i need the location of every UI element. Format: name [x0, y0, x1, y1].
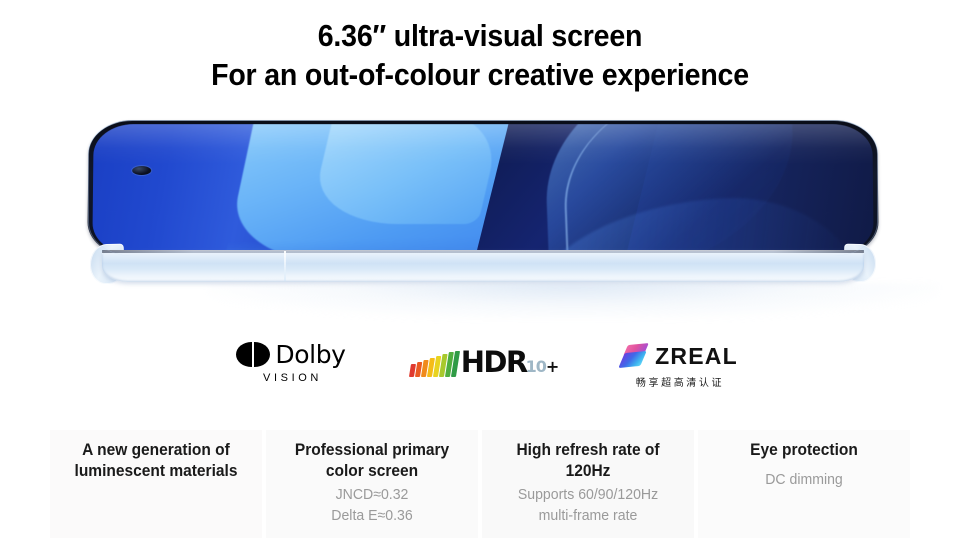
feature-subtext-2: multi-frame rate: [494, 506, 682, 526]
product-hero-image: [0, 112, 960, 322]
page-headline: 6.36″ ultra-visual screen For an out-of-…: [0, 18, 960, 93]
zreal-diamond-icon: [622, 344, 648, 368]
front-camera-icon: [132, 166, 151, 175]
phone-screen: [92, 124, 874, 254]
hdr-mark: HDR 10 +: [411, 348, 560, 377]
feature-subtext-1: DC dimming: [710, 470, 898, 490]
dolby-wordmark: Dolby: [275, 342, 345, 367]
feature-title: A new generation of luminescent material…: [62, 440, 250, 482]
feature-column-eye-protection: Eye protection DC dimming: [698, 430, 910, 538]
hdr-text-group: HDR 10 +: [461, 348, 560, 377]
headline-line-2: For an out-of-colour creative experience: [38, 57, 921, 93]
zreal-subtitle-chinese: 畅享超高清认证: [636, 374, 724, 389]
feature-highlights-row: A new generation of luminescent material…: [0, 430, 960, 560]
feature-subtext-1: Supports 60/90/120Hz: [494, 485, 682, 505]
feature-column-luminescent-materials: A new generation of luminescent material…: [50, 430, 262, 538]
zreal-logo: ZREAL 畅享超高清认证: [590, 336, 770, 402]
feature-title: Eye protection: [710, 440, 898, 461]
dolby-vision-logo: Dolby VISION: [196, 336, 386, 402]
hdr10plus-logo: HDR 10 +: [395, 336, 575, 402]
hdr-color-bars-icon: [409, 351, 460, 377]
zreal-wordmark: ZREAL: [655, 345, 738, 368]
phone-side-rail: [102, 250, 864, 282]
phone-bezel: [87, 120, 879, 256]
feature-subtext-2: Delta E≈0.36: [278, 506, 466, 526]
feature-subtext-1: JNCD≈0.32: [278, 485, 466, 505]
certification-logo-row: Dolby VISION HDR 10 +: [0, 336, 960, 402]
zreal-mark: ZREAL: [622, 344, 738, 368]
feature-column-refresh-rate: High refresh rate of 120Hz Supports 60/9…: [482, 430, 694, 538]
phone-device: [88, 120, 878, 290]
feature-title: High refresh rate of 120Hz: [494, 440, 682, 482]
feature-column-primary-color-screen: Professional primary color screen JNCD≈0…: [266, 430, 478, 538]
dolby-mark: Dolby: [236, 342, 345, 367]
hdr-wordmark: HDR: [461, 348, 527, 377]
hdr-ten-label: 10: [526, 359, 546, 375]
dolby-vision-subtitle: VISION: [260, 372, 322, 384]
headline-line-1: 6.36″ ultra-visual screen: [38, 18, 921, 54]
phone-antenna-line: [284, 251, 286, 281]
hdr-plus-label: +: [546, 359, 559, 375]
phone-floor-reflection: [208, 283, 938, 319]
feature-title: Professional primary color screen: [278, 440, 466, 482]
dolby-double-d-icon: [236, 342, 270, 367]
